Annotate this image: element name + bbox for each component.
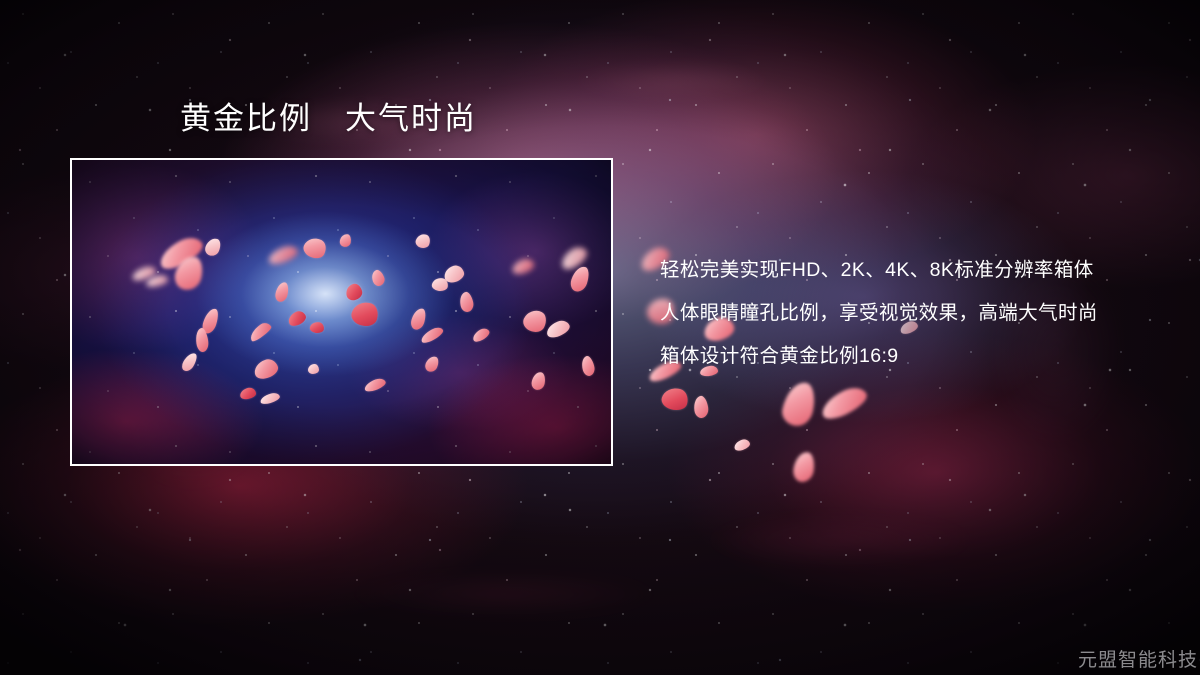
body-line-1: 轻松完美实现FHD、2K、4K、8K标准分辨率箱体 (660, 249, 1160, 292)
body-line-2: 人体眼睛瞳孔比例，享受视觉效果，高端大气时尚 (660, 292, 1160, 335)
slide-title: 黄金比例 大气时尚 (180, 100, 477, 139)
watermark-text: 元盟智能科技 (1078, 645, 1198, 672)
panel-vignette (72, 160, 611, 464)
body-text-block: 轻松完美实现FHD、2K、4K、8K标准分辨率箱体 人体眼睛瞳孔比例，享受视觉效… (660, 249, 1160, 378)
presentation-slide: 黄金比例 大气时尚 (0, 0, 1200, 675)
framed-image-panel (70, 158, 613, 466)
body-line-3: 箱体设计符合黄金比例16:9 (660, 335, 1160, 378)
